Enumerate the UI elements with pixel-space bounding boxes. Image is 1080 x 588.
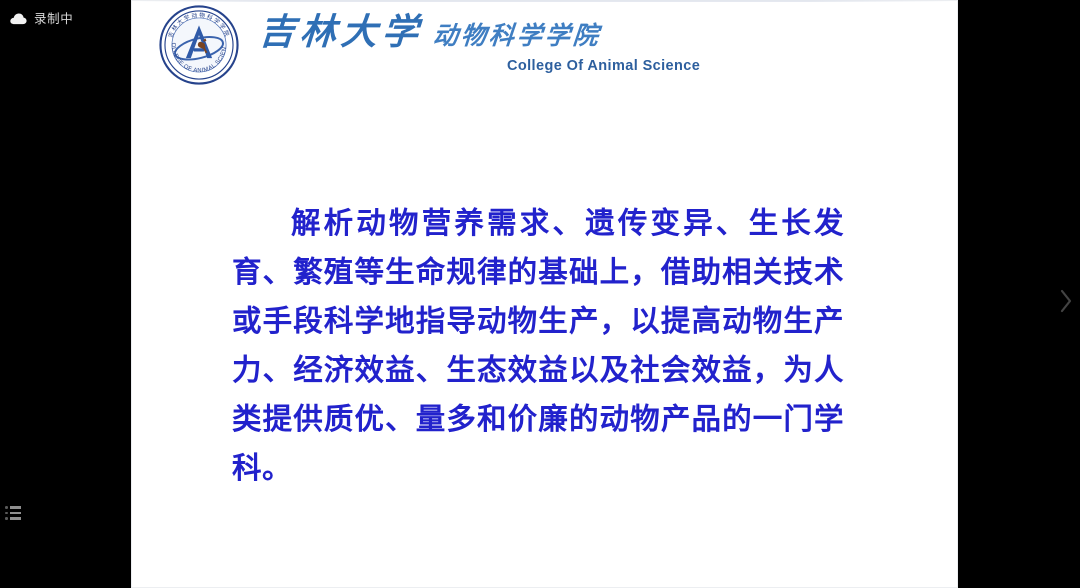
logo-wordmark: 吉林大学 动物科学学院 College Of Animal Science [259,4,700,74]
college-name-cn: 动物科学学院 [432,23,602,48]
university-name-cn: 吉林大学 [258,14,425,50]
logo-wordmark-chinese: 吉林大学 动物科学学院 [259,14,700,50]
list-icon[interactable] [5,506,23,522]
list-icon-row [5,517,23,520]
presentation-viewer: 录制中 [0,0,1080,588]
slide-top-divider [131,0,958,2]
list-bullet-dot [5,506,8,509]
chevron-right-icon[interactable] [1058,288,1074,314]
slide-body: 解析动物营养需求、遗传变异、生长发育、繁殖等生命规律的基础上，借助相关技术或手段… [232,199,844,493]
recording-indicator: 录制中 [10,9,73,29]
slide-header: COLLEGE OF ANIMAL SCIENCE 吉林大学动物科学学院 吉林大… [155,4,700,86]
slide-paragraph: 解析动物营养需求、遗传变异、生长发育、繁殖等生命规律的基础上，借助相关技术或手段… [232,199,844,493]
slide-canvas[interactable]: COLLEGE OF ANIMAL SCIENCE 吉林大学动物科学学院 吉林大… [131,0,958,588]
list-bullet-bar [10,512,21,515]
list-icon-row [5,512,23,515]
list-bullet-bar [10,506,21,509]
list-bullet-dot [5,517,8,520]
list-bullet-dot [5,512,8,515]
list-bullet-bar [10,517,21,520]
college-name-en: College Of Animal Science [507,59,700,74]
list-icon-row [5,506,23,509]
university-seal-icon: COLLEGE OF ANIMAL SCIENCE 吉林大学动物科学学院 [155,4,243,86]
recording-label: 录制中 [34,13,73,26]
cloud-icon [10,13,27,25]
